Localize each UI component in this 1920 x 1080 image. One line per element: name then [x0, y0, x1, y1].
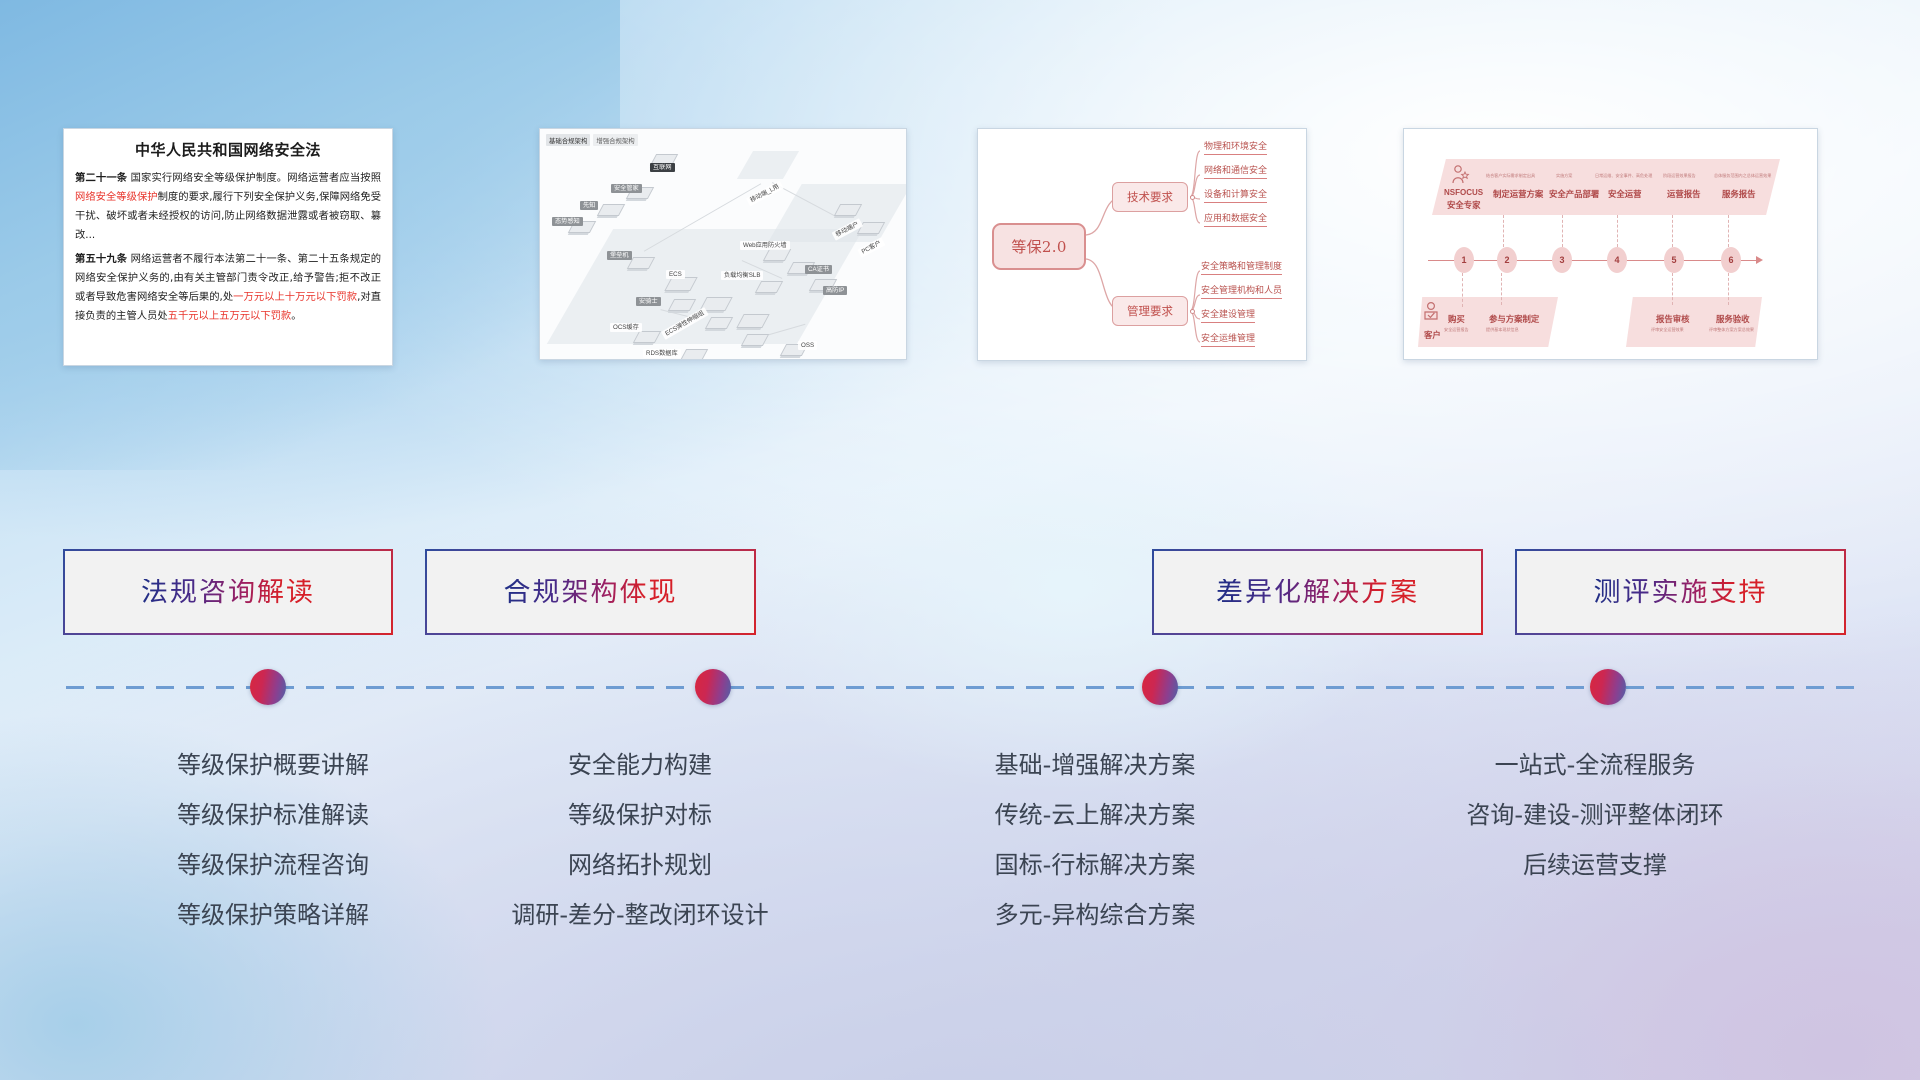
list-item: 网络拓扑规划	[430, 840, 850, 890]
process-connector-3	[1562, 215, 1563, 247]
process-connector-6b	[1728, 273, 1729, 305]
top-step-1-title: 制定运营方案	[1493, 188, 1543, 200]
top-step-4-sub: 阶段运营效果报告	[1663, 173, 1696, 179]
mindmap-node-technical-requirements: 技术要求	[1112, 182, 1188, 212]
label-internet: 互联网	[650, 163, 675, 172]
vendor-role: 安全专家	[1447, 199, 1481, 211]
label-gaofang-ip: 高防IP	[823, 286, 847, 295]
bottom-step-3-title: 报告审核	[1656, 313, 1690, 325]
customer-role: 客户	[1424, 329, 1441, 341]
architecture-diagram: 基础合规架构 增强合规架构	[540, 129, 906, 359]
timeline-dot-3[interactable]	[1142, 669, 1178, 705]
card-mindmap-dengbao[interactable]: 等保2.0 技术要求 管理要求	[977, 128, 1307, 361]
title-box-differentiated-solution[interactable]: 差异化解决方案	[1152, 549, 1483, 635]
card-cybersecurity-law[interactable]: 中华人民共和国网络安全法 第二十一条 国家实行网络安全等级保护制度。网络运营者应…	[63, 128, 393, 366]
detail-column-regulation-consulting: 等级保护概要讲解 等级保护标准解读 等级保护流程咨询 等级保护策略详解	[63, 740, 483, 940]
top-step-2-title: 安全产品部署	[1549, 188, 1599, 200]
bottom-step-3-sub: 评审安全运营效果	[1651, 327, 1684, 333]
bottom-step-1-title: 购买	[1448, 313, 1465, 325]
mindmap-collapse-dot-technical[interactable]	[1190, 195, 1195, 200]
top-step-3-title: 安全运营	[1608, 188, 1642, 200]
label-bastion-host: 堡垒机	[607, 251, 632, 260]
list-item: 后续运营支撑	[1345, 840, 1845, 890]
detail-list-row: 等级保护概要讲解 等级保护标准解读 等级保护流程咨询 等级保护策略详解 安全能力…	[0, 740, 1920, 970]
process-band-vendor	[1432, 159, 1780, 215]
process-connector-5b	[1672, 273, 1673, 305]
node-box-ecs-scale-d	[741, 334, 769, 346]
process-connector-2b	[1501, 273, 1502, 305]
mindmap-leaf-security-operations: 安全运维管理	[1201, 331, 1255, 347]
tab-enhanced-architecture[interactable]: 增强合规架构	[593, 134, 637, 146]
label-oss: OSS	[798, 341, 817, 350]
timeline-dot-1[interactable]	[250, 669, 286, 705]
article-59-text-c: 。	[291, 310, 301, 322]
list-item: 多元-异构综合方案	[895, 890, 1295, 940]
top-step-2-sub: 实施方案	[1556, 173, 1572, 179]
mindmap-leaf-security-construction: 安全建设管理	[1201, 307, 1255, 323]
process-node-4[interactable]: 4	[1607, 247, 1627, 273]
process-diagram: NSFOCUS 安全专家 客户 结合客户实际需求制定出具 制定运营方案 实施方案…	[1404, 129, 1817, 359]
label-situational-awareness: 态势感知	[552, 217, 583, 226]
process-connector-1	[1462, 273, 1463, 307]
article-59-label: 第五十九条	[75, 253, 127, 265]
thumbnail-card-row: 中华人民共和国网络安全法 第二十一条 国家实行网络安全等级保护制度。网络运营者应…	[0, 128, 1920, 438]
law-article-59: 第五十九条 网络运营者不履行本法第二十一条、第二十五条规定的网络安全保护义务的,…	[75, 250, 381, 326]
law-article-21: 第二十一条 国家实行网络安全等级保护制度。网络运营者应当按照网络安全等级保护制度…	[75, 169, 381, 245]
tab-basic-architecture[interactable]: 基础合规架构	[546, 134, 590, 146]
card-nsfocus-service-process[interactable]: NSFOCUS 安全专家 客户 结合客户实际需求制定出具 制定运营方案 实施方案…	[1403, 128, 1818, 360]
list-item: 等级保护策略详解	[63, 890, 483, 940]
process-axis-arrow-icon	[1756, 256, 1763, 264]
process-node-5[interactable]: 5	[1664, 247, 1684, 273]
title-box-compliance-architecture[interactable]: 合规架构体现	[425, 549, 756, 635]
detail-column-compliance-architecture: 安全能力构建 等级保护对标 网络拓扑规划 调研-差分-整改闭环设计	[430, 740, 850, 940]
top-step-1-sub: 结合客户实际需求制定出具	[1486, 173, 1535, 179]
process-connector-6	[1728, 215, 1729, 247]
mindmap-collapse-dot-management[interactable]	[1190, 309, 1195, 314]
bottom-step-2-sub: 提供基本现状信息	[1486, 327, 1519, 333]
title-label-compliance-architecture: 合规架构体现	[504, 579, 678, 606]
top-step-3-sub: 日常运维、安全事件、高危处理	[1595, 173, 1652, 179]
card-compliance-architecture[interactable]: 基础合规架构 增强合规架构	[539, 128, 907, 360]
process-connector-2	[1503, 215, 1504, 247]
label-xianzhi: 先知	[580, 201, 598, 210]
list-item: 咨询-建设-测评整体闭环	[1345, 790, 1845, 840]
list-item: 调研-差分-整改闭环设计	[430, 890, 850, 940]
bottom-step-2-title: 参与方案制定	[1489, 313, 1539, 325]
list-item: 一站式-全流程服务	[1345, 740, 1845, 790]
mindmap-node-management-requirements: 管理要求	[1112, 296, 1188, 326]
mindmap-leaf-security-org-personnel: 安全管理机构和人员	[1201, 283, 1282, 299]
label-ecs: ECS	[666, 270, 685, 279]
section-title-row: 法规咨询解读 合规架构体现 差异化解决方案 测评实施支持	[0, 549, 1920, 635]
detail-column-differentiated-solution: 基础-增强解决方案 传统-云上解决方案 国标-行标解决方案 多元-异构综合方案	[895, 740, 1295, 940]
mindmap-leaf-application-data: 应用和数据安全	[1204, 211, 1267, 227]
label-slb: 负载均衡SLB	[721, 271, 763, 280]
timeline-dot-2[interactable]	[695, 669, 731, 705]
title-label-differentiated-solution: 差异化解决方案	[1216, 579, 1419, 606]
mindmap-diagram: 等保2.0 技术要求 管理要求	[978, 129, 1306, 360]
top-step-5-title: 服务报告	[1722, 188, 1756, 200]
label-waf: Web应用防火墙	[740, 241, 790, 250]
article-21-highlight: 网络安全等级保护	[75, 191, 158, 203]
list-item: 国标-行标解决方案	[895, 840, 1295, 890]
bottom-step-1-sub: 安全运营报告	[1444, 327, 1469, 333]
title-box-regulation-consulting[interactable]: 法规咨询解读	[63, 549, 393, 635]
process-node-1[interactable]: 1	[1454, 247, 1474, 273]
zone-plate-top	[737, 151, 799, 179]
list-item: 安全能力构建	[430, 740, 850, 790]
timeline	[0, 686, 1920, 690]
process-node-3[interactable]: 3	[1552, 247, 1572, 273]
title-label-regulation-consulting: 法规咨询解读	[141, 579, 315, 606]
process-node-6[interactable]: 6	[1721, 247, 1741, 273]
list-item: 等级保护概要讲解	[63, 740, 483, 790]
bottom-step-4-sub: 评审整体方案方案总效果	[1709, 327, 1754, 333]
detail-column-assessment-support: 一站式-全流程服务 咨询-建设-测评整体闭环 后续运营支撑	[1345, 740, 1845, 890]
node-box-rds	[680, 349, 708, 360]
list-item: 等级保护对标	[430, 790, 850, 840]
slide-stage: 中华人民共和国网络安全法 第二十一条 国家实行网络安全等级保护制度。网络运营者应…	[0, 0, 1920, 1080]
label-ca-certificate: CA证书	[805, 265, 832, 274]
label-rds-database: RDS数据库	[643, 349, 681, 358]
mindmap-leaf-network-communication: 网络和通信安全	[1204, 163, 1267, 179]
timeline-dashed-line	[66, 686, 1856, 689]
architecture-tab-group[interactable]: 基础合规架构 增强合规架构	[546, 134, 638, 146]
article-21-text-a: 国家实行网络安全等级保护制度。网络运营者应当按照	[127, 172, 381, 184]
label-anqishi: 安骑士	[636, 297, 661, 306]
customer-person-icon	[1422, 301, 1442, 325]
top-step-5-sub: 总体服务范围内之总体运营效果	[1714, 173, 1771, 179]
top-step-4-title: 运营报告	[1667, 188, 1701, 200]
expert-person-icon	[1449, 165, 1471, 185]
article-21-label: 第二十一条	[75, 172, 127, 184]
mindmap-root-node: 等保2.0	[992, 223, 1086, 270]
article-59-highlight-a: 一万元以上十万元以下罚款	[233, 291, 357, 303]
mindmap-leaf-physical-environment: 物理和环境安全	[1204, 139, 1267, 155]
mindmap-leaf-device-computing: 设备和计算安全	[1204, 187, 1267, 203]
label-ocs-cache: OCS缓存	[610, 323, 642, 332]
law-title: 中华人民共和国网络安全法	[75, 139, 381, 160]
list-item: 传统-云上解决方案	[895, 790, 1295, 840]
list-item: 等级保护流程咨询	[63, 840, 483, 890]
vendor-name: NSFOCUS	[1444, 188, 1483, 197]
timeline-dot-4[interactable]	[1590, 669, 1626, 705]
title-box-assessment-support[interactable]: 测评实施支持	[1515, 549, 1846, 635]
process-connector-4	[1617, 215, 1618, 247]
title-label-assessment-support: 测评实施支持	[1594, 579, 1768, 606]
node-box-xianzhi	[597, 204, 625, 216]
process-connector-5	[1672, 215, 1673, 247]
mindmap-leaf-security-policy: 安全策略和管理制度	[1201, 259, 1282, 275]
list-item: 等级保护标准解读	[63, 790, 483, 840]
label-security-butler: 安全管家	[611, 184, 642, 193]
law-document: 中华人民共和国网络安全法 第二十一条 国家实行网络安全等级保护制度。网络运营者应…	[64, 129, 392, 337]
article-59-highlight-b: 五千元以上五万元以下罚款	[168, 310, 292, 322]
list-item: 基础-增强解决方案	[895, 740, 1295, 790]
bottom-step-4-title: 服务验收	[1716, 313, 1750, 325]
label-mobile-office: 移动端_L用	[746, 181, 784, 207]
process-axis-line	[1428, 260, 1758, 261]
process-node-2[interactable]: 2	[1497, 247, 1517, 273]
